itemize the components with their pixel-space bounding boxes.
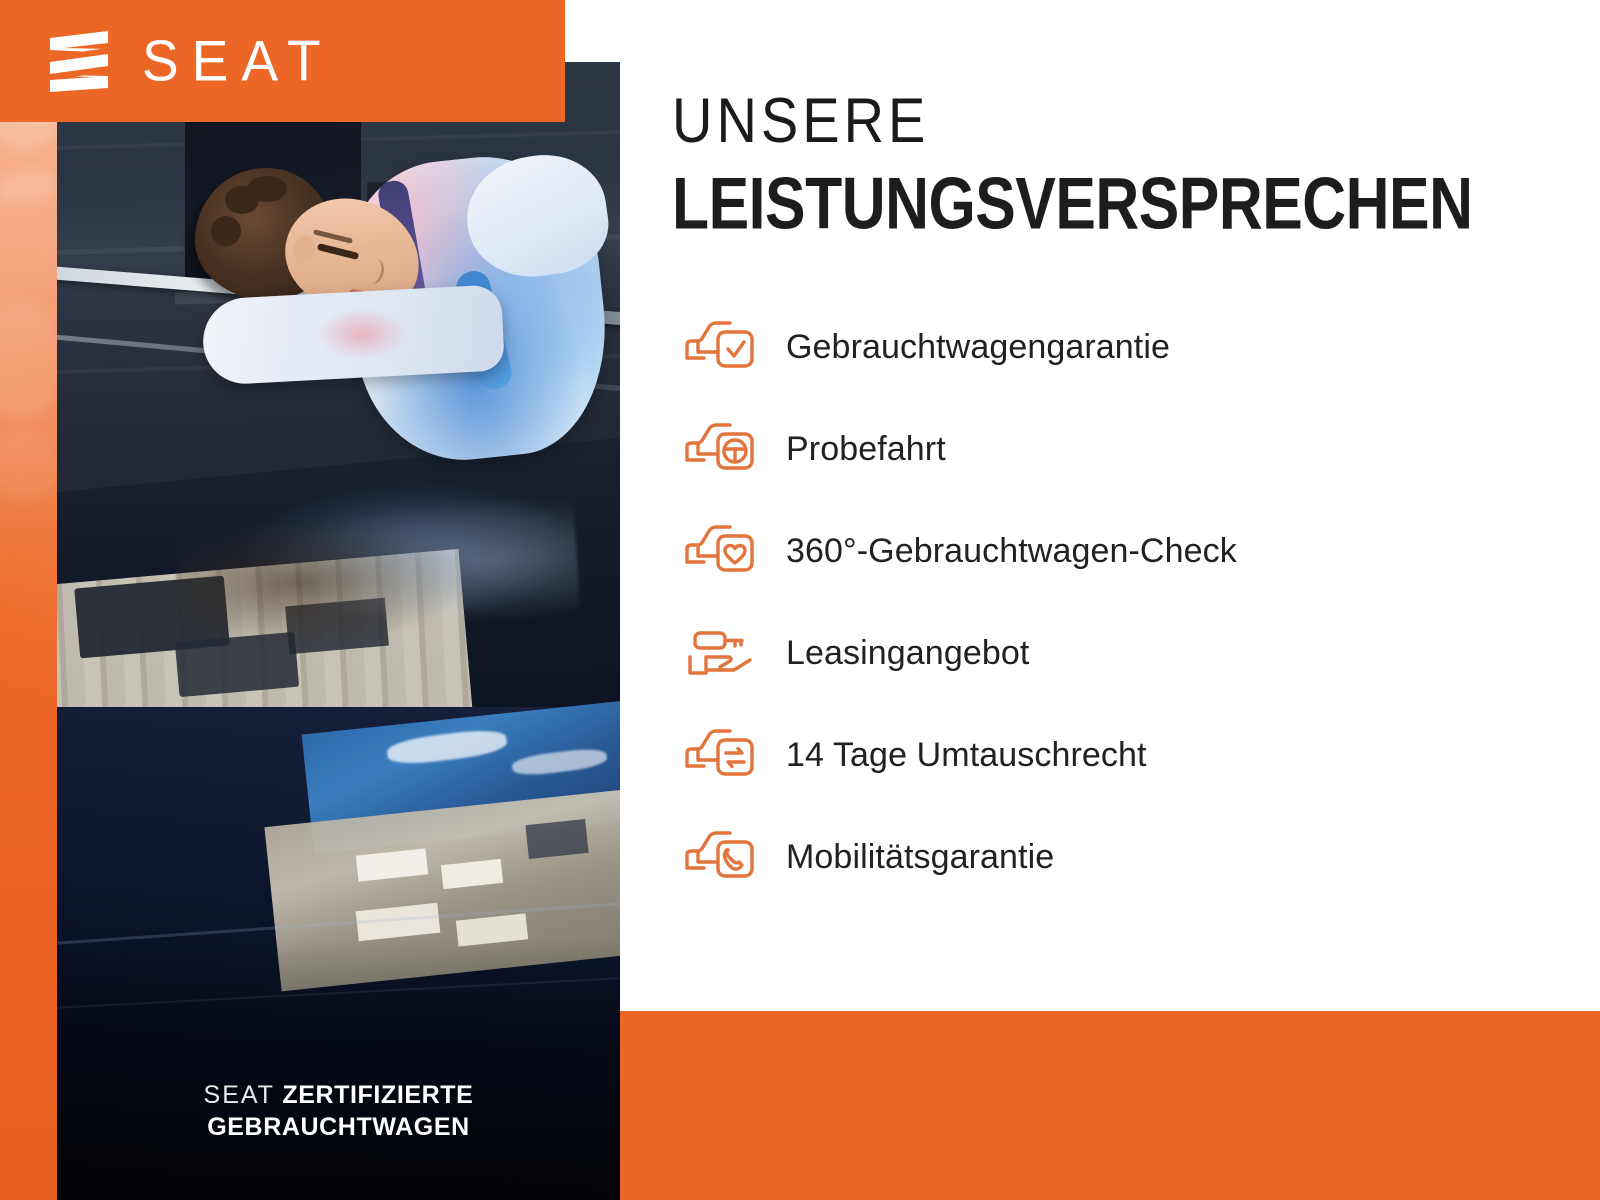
car-steering-wheel-icon — [682, 416, 760, 482]
person-resting-on-car — [167, 140, 597, 500]
car-exchange-icon — [682, 722, 760, 788]
benefit-row-probefahrt: Probefahrt — [682, 398, 1582, 500]
car-heart-icon — [682, 518, 760, 584]
headline-line-2: LEISTUNGSVERSPRECHEN — [672, 167, 1554, 242]
bottom-orange-band — [620, 1011, 1600, 1200]
benefit-row-mobilitaetsgarantie: Mobilitätsgarantie — [682, 806, 1582, 908]
benefit-row-360-check: 360°-Gebrauchtwagen-Check — [682, 500, 1582, 602]
page-title: UNSERE LEISTUNGSVERSPRECHEN — [672, 88, 1572, 230]
benefit-row-umtauschrecht: 14 Tage Umtauschrecht — [682, 704, 1582, 806]
hand-key-icon — [682, 620, 760, 686]
photo-caption: SEAT ZERTIFIZIERTE GEBRAUCHTWAGEN — [57, 1081, 620, 1143]
benefits-list: Gebrauchtwagengarantie Probefahrt — [682, 296, 1582, 908]
car-phone-icon — [682, 824, 760, 890]
left-orange-strip — [0, 0, 57, 1200]
benefit-row-gebrauchtwagengarantie: Gebrauchtwagengarantie — [682, 296, 1582, 398]
seat-s-mark-icon — [44, 28, 116, 94]
benefit-label: 360°-Gebrauchtwagen-Check — [786, 532, 1237, 571]
benefit-row-leasingangebot: Leasingangebot — [682, 602, 1582, 704]
benefit-label: Mobilitätsgarantie — [786, 838, 1054, 877]
brand-logo-bar: SEAT — [0, 0, 565, 122]
hero-photo: SEAT ZERTIFIZIERTE GEBRAUCHTWAGEN — [57, 62, 620, 1200]
car-check-icon — [682, 314, 760, 380]
caption-bold-line2: GEBRAUCHTWAGEN — [57, 1113, 620, 1142]
seat-wordmark: SEAT — [142, 32, 334, 89]
benefit-label: Gebrauchtwagengarantie — [786, 328, 1170, 367]
benefit-label: Leasingangebot — [786, 634, 1029, 673]
seat-promo-banner: SEAT ZERTIFIZIERTE GEBRAUCHTWAGEN UNSERE… — [0, 0, 1600, 1200]
caption-seat-word: SEAT — [204, 1081, 275, 1109]
caption-bold-line1: ZERTIFIZIERTE — [282, 1081, 473, 1109]
headline-line-1: UNSERE — [672, 88, 1572, 152]
benefit-label: Probefahrt — [786, 430, 946, 469]
benefit-label: 14 Tage Umtauschrecht — [786, 736, 1147, 775]
